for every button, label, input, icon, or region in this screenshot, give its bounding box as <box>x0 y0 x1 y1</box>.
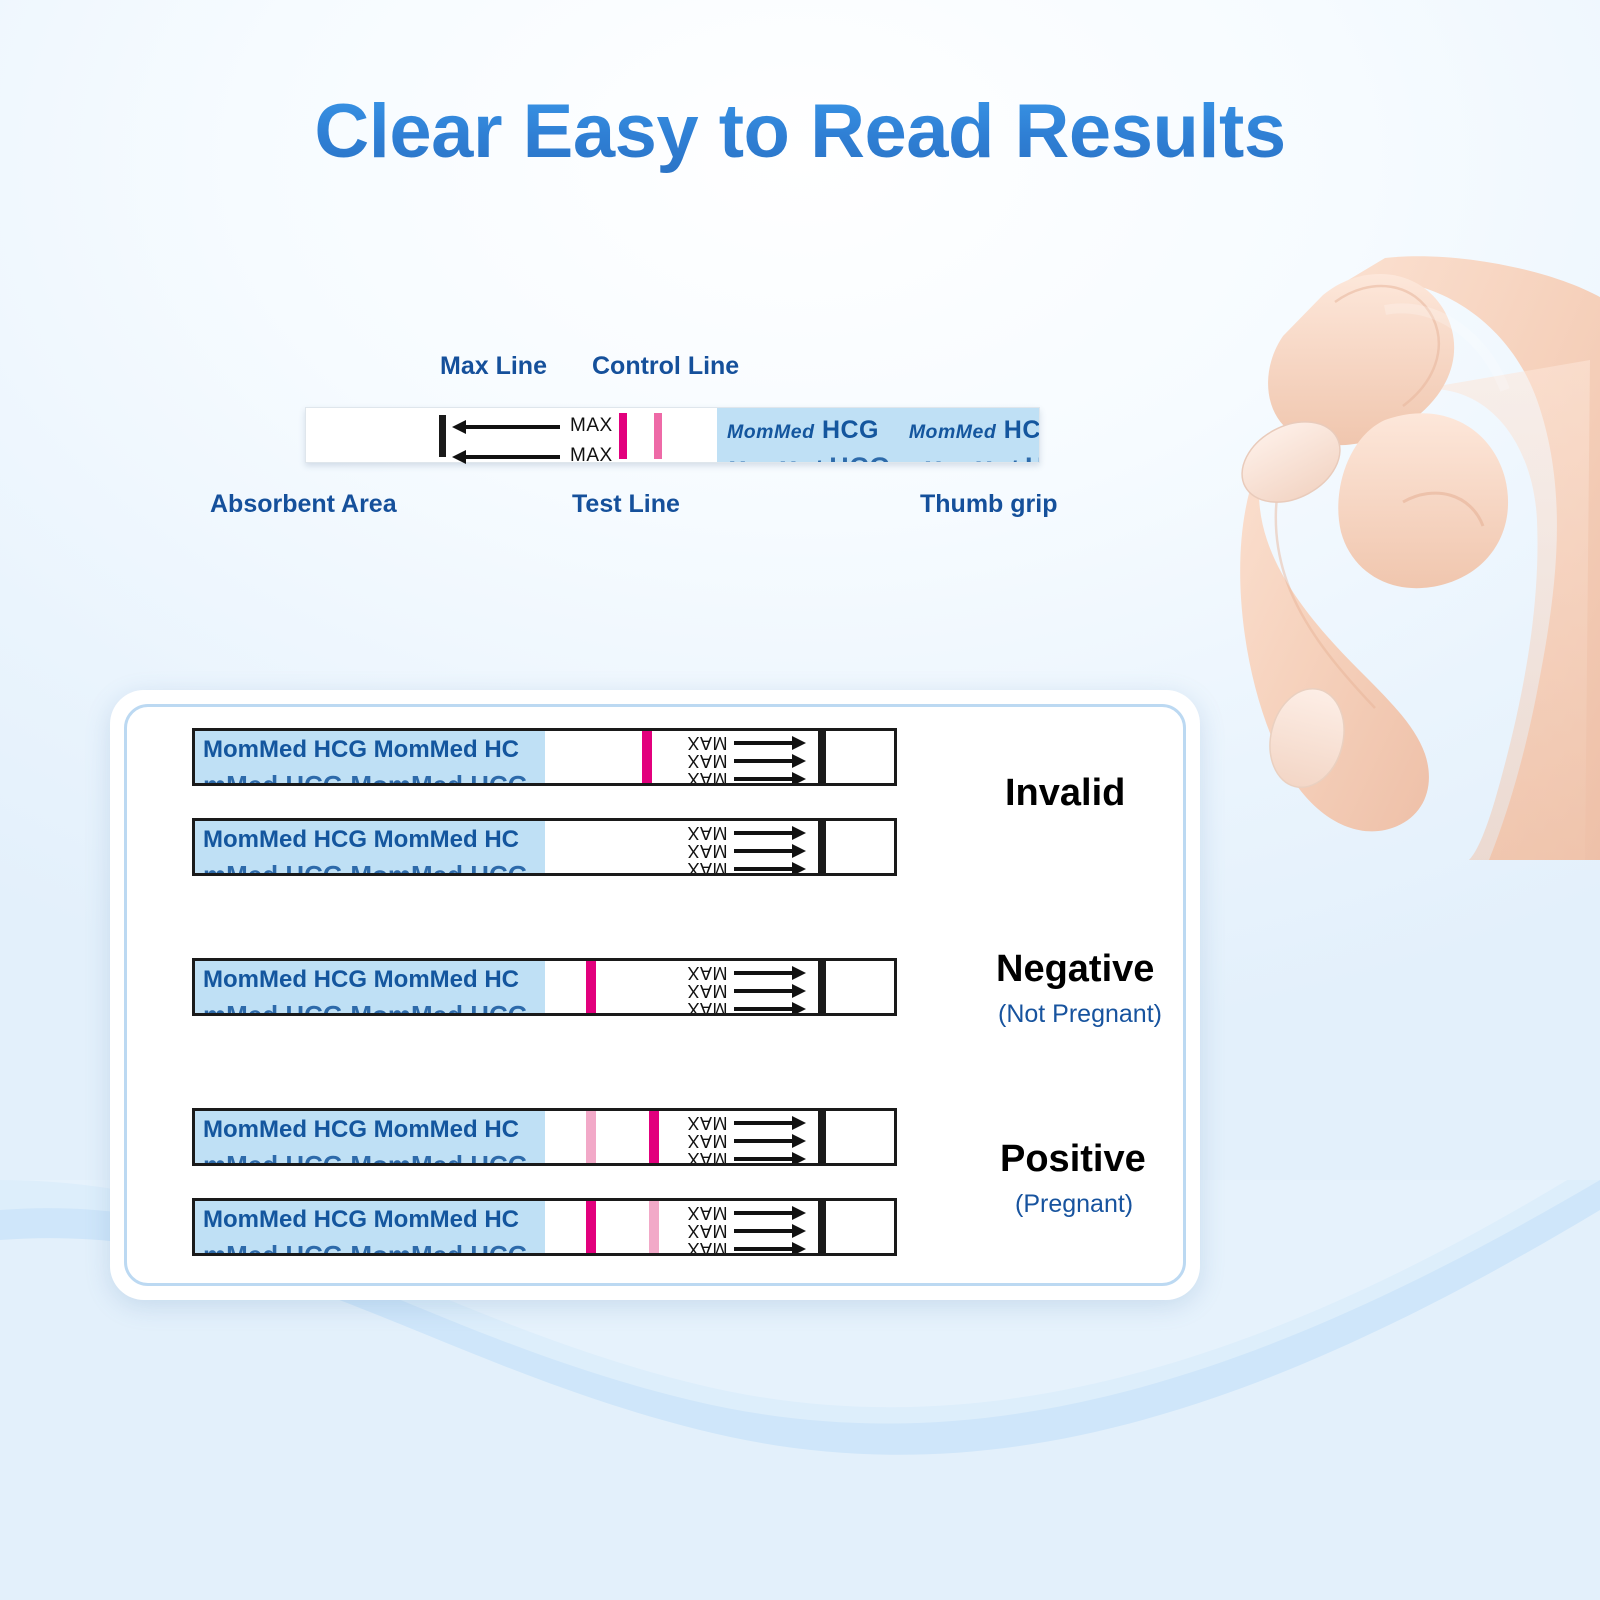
arrow-shaft <box>464 425 560 429</box>
max-line-marker <box>818 961 826 1013</box>
results-card: MomMed HCG MomMed HC mMed HCG MomMed HCG… <box>110 690 1200 1300</box>
strip-thumb-grip: MomMed HCG MomMed HC mMed HCG MomMed HCG <box>195 1111 545 1163</box>
brand-text-row-2: mMed HCG MomMed HCG <box>203 1000 528 1013</box>
arrow-shaft <box>734 989 792 993</box>
brand-text-row-2: mMed HCG MomMed HCG <box>203 1150 528 1163</box>
max-arrow-row: MAX <box>688 734 808 751</box>
max-arrow-group: MAX MAX MAX <box>688 824 808 876</box>
arrow-right-icon <box>792 862 806 876</box>
arrow-right-icon <box>792 754 806 768</box>
brand-text-row-2: mMed HCG MomMed HCG <box>203 1240 528 1253</box>
strip-control-line <box>654 413 662 459</box>
max-arrow-row: MAX <box>688 842 808 859</box>
max-arrow-row: MAX <box>688 1132 808 1149</box>
arrow-shaft <box>734 1229 792 1233</box>
strip-thumb-grip: MomMed HCG MomMed HC mMed HCG MomMed HCG <box>195 821 545 873</box>
arrow-right-icon <box>792 826 806 840</box>
arrow-shaft <box>734 1247 792 1251</box>
arrow-right-icon <box>792 1242 806 1256</box>
max-line-marker <box>818 1201 826 1253</box>
label-max-line: Max Line <box>440 352 547 381</box>
result-strip-positive-1: MomMed HCG MomMed HC mMed HCG MomMed HCG… <box>192 1108 897 1166</box>
brand-name: MomMed <box>727 458 821 462</box>
arrow-shaft <box>464 455 560 459</box>
result-strip-positive-2: MomMed HCG MomMed HC mMed HCG MomMed HCG… <box>192 1198 897 1256</box>
arrow-shaft <box>734 1157 792 1161</box>
label-control-line: Control Line <box>592 352 739 381</box>
brand-text-row-1: MomMed HCG MomMed HC <box>203 736 519 764</box>
max-line-marker <box>818 1111 826 1163</box>
max-arrow-row: MAX <box>688 824 808 841</box>
max-arrow-label: MAX <box>687 1238 728 1256</box>
label-thumb-grip: Thumb grip <box>920 490 1057 519</box>
annotated-test-strip: MAX MAX MomMed HCG MomMed HCG MomMed HCG… <box>305 407 1040 463</box>
brand-text-row-1: MomMed HCG MomMed HC <box>203 1116 519 1144</box>
brand-text-row-2: mMed HCG MomMed HCG <box>203 860 528 873</box>
max-arrow-group: MAX MAX MAX <box>688 734 808 786</box>
max-arrow-row: MAX <box>688 1150 808 1166</box>
strip-test-line-faint <box>586 1111 596 1163</box>
brand-text-row-1: MomMed HCG MomMed HC <box>203 966 519 994</box>
strip-control-line-faint <box>649 1201 659 1253</box>
arrow-right-icon <box>792 966 806 980</box>
result-sublabel-positive: (Pregnant) <box>1015 1190 1133 1219</box>
arrow-right-icon <box>792 1116 806 1130</box>
label-absorbent-area: Absorbent Area <box>210 490 397 519</box>
max-arrow-row: MAX <box>688 770 808 786</box>
arrow-right-icon <box>792 1134 806 1148</box>
result-sublabel-negative: (Not Pregnant) <box>998 1000 1162 1029</box>
arrow-shaft <box>734 1121 792 1125</box>
arrow-shaft <box>734 971 792 975</box>
result-label-negative: Negative <box>996 948 1154 991</box>
arrow-right-icon <box>792 984 806 998</box>
brand-product: HCG <box>1025 452 1039 462</box>
arrow-shaft <box>734 849 792 853</box>
strip-control-line <box>586 961 596 1013</box>
strip-control-line <box>642 731 652 783</box>
max-arrow-label: MAX <box>687 998 728 1016</box>
brand-product: HCG <box>822 416 879 444</box>
max-arrow-label: MAX <box>687 1148 728 1166</box>
arrow-shaft <box>734 1139 792 1143</box>
page-title: Clear Easy to Read Results <box>0 88 1600 175</box>
result-strip-negative: MomMed HCG MomMed HC mMed HCG MomMed HCG… <box>192 958 897 1016</box>
max-line-marker <box>439 415 446 457</box>
max-arrow-label: MAX <box>570 415 613 437</box>
result-label-invalid: Invalid <box>1005 772 1125 815</box>
result-strip-invalid-1: MomMed HCG MomMed HC mMed HCG MomMed HCG… <box>192 728 897 786</box>
max-arrow-label: MAX <box>570 445 613 467</box>
arrow-shaft <box>734 741 792 745</box>
arrow-right-icon <box>792 1152 806 1166</box>
strip-thumb-grip: MomMed HCG MomMed HC mMed HCG MomMed HCG <box>195 1201 545 1253</box>
arrow-right-icon <box>792 772 806 786</box>
max-arrow-row: MAX <box>688 982 808 999</box>
max-arrow-row: MAX <box>688 860 808 876</box>
strip-thumb-grip: MomMed HCG MomMed HC mMed HCG MomMed HCG <box>195 961 545 1013</box>
arrow-shaft <box>734 1007 792 1011</box>
max-arrow-row: MAX <box>688 752 808 769</box>
brand-text-row-2: MomMed HCG MomMed HCG <box>727 452 1039 462</box>
max-arrow-group: MAX MAX MAX <box>688 1204 808 1256</box>
brand-text-row-2: mMed HCG MomMed HCG <box>203 770 528 783</box>
max-line-marker <box>818 731 826 783</box>
label-test-line: Test Line <box>572 490 680 519</box>
max-line-marker <box>818 821 826 873</box>
strip-thumb-grip: MomMed HCG MomMed HC mMed HCG MomMed HCG <box>195 731 545 783</box>
brand-name: MomMed <box>923 458 1017 462</box>
arrow-shaft <box>734 867 792 871</box>
max-arrow-row: MAX <box>688 1240 808 1256</box>
strip-test-line <box>586 1201 596 1253</box>
brand-name: MomMed <box>909 421 997 443</box>
arrow-shaft <box>734 831 792 835</box>
arrow-right-icon <box>792 1002 806 1016</box>
arrow-right-icon <box>792 736 806 750</box>
brand-text-row-1: MomMed HCG MomMed HC <box>203 1206 519 1234</box>
brand-text-row-1: MomMed HCG MomMed HC <box>203 826 519 854</box>
brand-text-row-1: MomMed HCG MomMed HCG <box>727 416 1039 445</box>
max-arrow-row: MAX <box>688 1204 808 1221</box>
max-arrow-row: MAX <box>688 964 808 981</box>
arrow-right-icon <box>792 1206 806 1220</box>
result-strip-invalid-2: MomMed HCG MomMed HC mMed HCG MomMed HCG… <box>192 818 897 876</box>
thumb-grip-area: MomMed HCG MomMed HCG MomMed HCG MomMed … <box>717 408 1039 462</box>
max-arrow-label: MAX <box>687 858 728 876</box>
brand-product: HCG <box>829 452 891 462</box>
brand-name: MomMed <box>727 421 815 443</box>
arrow-right-icon <box>792 1224 806 1238</box>
arrow-shaft <box>734 759 792 763</box>
strip-control-line <box>649 1111 659 1163</box>
arrow-right-icon <box>792 844 806 858</box>
max-arrow-group: MAX MAX MAX <box>688 1114 808 1166</box>
arrow-shaft <box>734 1211 792 1215</box>
brand-product: HCG <box>1004 416 1039 444</box>
result-label-positive: Positive <box>1000 1138 1146 1181</box>
max-arrow-row: MAX <box>688 1000 808 1016</box>
max-arrow-row: MAX <box>688 1222 808 1239</box>
max-arrow-row: MAX <box>688 1114 808 1131</box>
max-arrow-group: MAX MAX MAX <box>688 964 808 1016</box>
strip-test-line <box>619 413 627 459</box>
arrow-shaft <box>734 777 792 781</box>
max-arrow-label: MAX <box>687 768 728 786</box>
